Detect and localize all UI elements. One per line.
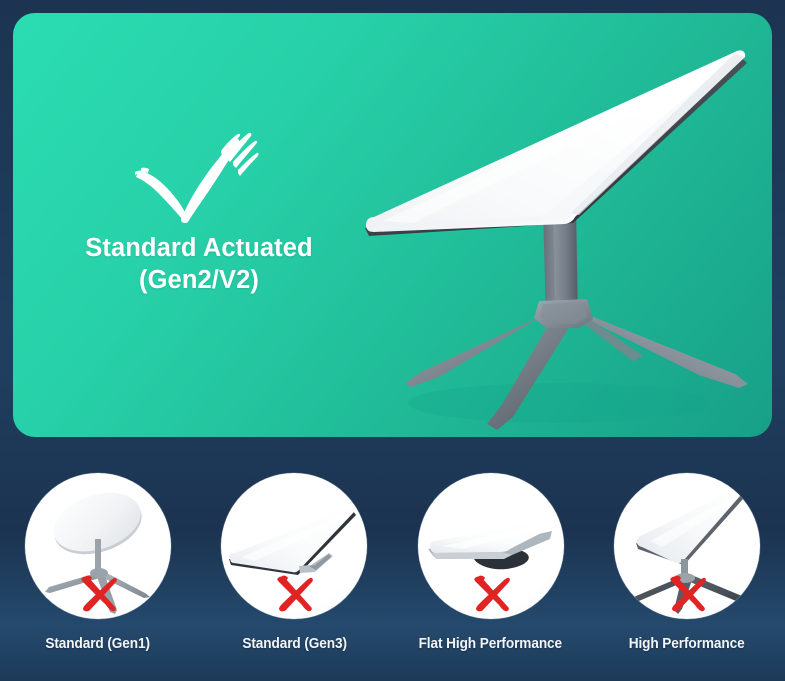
option-label: Standard (Gen3) [242, 636, 347, 652]
high-performance-dish-base-icon [614, 473, 760, 619]
unsupported-models-row: Standard (Gen1) [0, 452, 785, 681]
option-standard-gen3[interactable]: Standard (Gen3) [196, 452, 392, 681]
hero-card-supported-model: Standard Actuated (Gen2/V2) [13, 13, 772, 437]
option-label: Standard (Gen1) [46, 636, 151, 652]
option-label: High Performance [629, 636, 745, 652]
option-label: Flat High Performance [419, 636, 562, 652]
hero-caption-line1: Standard Actuated [85, 234, 312, 262]
starlink-standard-actuated-dish-icon [343, 31, 763, 437]
flat-high-performance-panel-icon [418, 473, 564, 619]
option-standard-gen1[interactable]: Standard (Gen1) [0, 452, 196, 681]
option-flat-high-performance[interactable]: Flat High Performance [393, 452, 589, 681]
page-root: Standard Actuated (Gen2/V2) [0, 0, 785, 681]
flat-panel-kickstand-icon [221, 473, 367, 619]
round-dish-tripod-icon [25, 473, 171, 619]
option-high-performance[interactable]: High Performance [589, 452, 785, 681]
brush-checkmark-icon [131, 131, 259, 226]
hero-caption-line2: (Gen2/V2) [39, 265, 359, 297]
hero-caption: Standard Actuated (Gen2/V2) [39, 233, 359, 297]
